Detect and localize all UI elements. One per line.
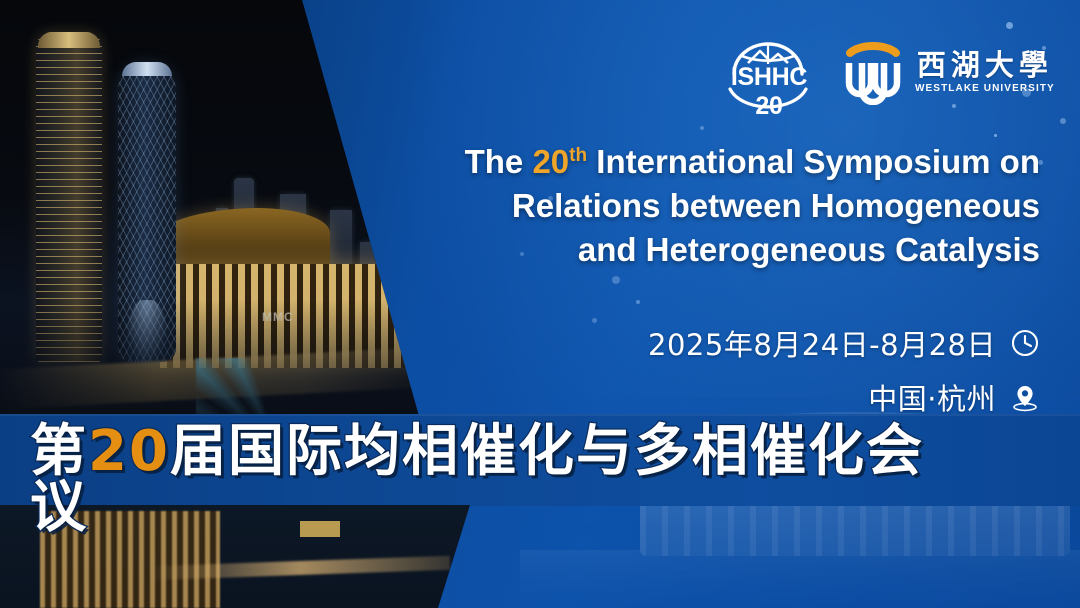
westlake-university-logo[interactable]: 西湖大學 WESTLAKE UNIVERSITY xyxy=(842,39,1055,105)
westlake-cn-name: 西湖大學 xyxy=(917,50,1053,80)
clock-icon xyxy=(1010,328,1040,358)
westlake-en-name: WESTLAKE UNIVERSITY xyxy=(915,83,1055,94)
title-line-3: and Heterogeneous Catalysis xyxy=(360,228,1040,272)
symposium-title: The 20th International Symposium on Rela… xyxy=(360,140,1040,272)
ishhc-logo-label: ISHHC 20 xyxy=(714,63,824,121)
westlake-w-mark-icon xyxy=(842,39,904,105)
logo-group: ISHHC 20 西湖大學 WESTLAKE UNIVERSITY xyxy=(712,34,1055,110)
headline-band-top-edge xyxy=(0,414,1080,416)
title-suffix: International Symposium on xyxy=(587,143,1040,180)
event-date-row: 2025年8月24日-8月28日 xyxy=(420,322,1040,364)
event-location-row: 中国·杭州 xyxy=(420,376,1040,418)
ishhc-logo[interactable]: ISHHC 20 xyxy=(712,34,824,110)
event-location: 中国·杭州 xyxy=(868,376,996,418)
map-pin-icon xyxy=(1010,382,1040,412)
chinese-headline-number: 20 xyxy=(88,419,170,484)
conference-banner: MMC ISHHC 20 xyxy=(0,0,1080,608)
title-ordinal: th xyxy=(569,145,587,166)
chinese-headline: 第20届国际均相催化与多相催化会议 xyxy=(30,424,930,536)
title-number: 20 xyxy=(532,143,569,180)
event-date: 2025年8月24日-8月28日 xyxy=(648,322,996,364)
title-line-1: The 20th International Symposium on xyxy=(360,140,1040,184)
title-line-2: Relations between Homogeneous xyxy=(360,184,1040,228)
title-prefix: The xyxy=(465,143,533,180)
